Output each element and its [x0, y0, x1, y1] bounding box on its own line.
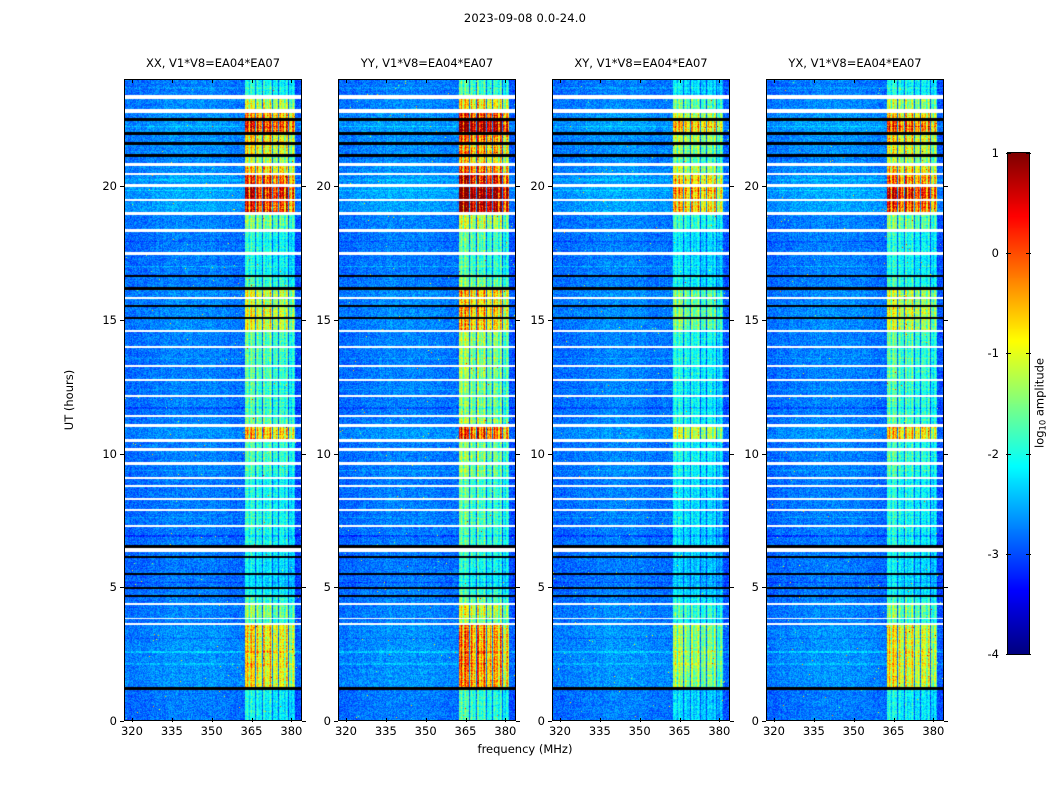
- x-tick-top: [854, 79, 855, 83]
- y-tick-label: 15: [744, 313, 759, 327]
- x-tick-label: 320: [335, 724, 357, 738]
- colorbar-frame: [1007, 152, 1030, 655]
- y-tick-label: 20: [102, 179, 117, 193]
- x-tick: [426, 718, 427, 722]
- x-tick: [640, 718, 641, 722]
- y-tick: [120, 721, 124, 722]
- y-tick-right: [730, 587, 734, 588]
- x-tick-label: 380: [708, 724, 730, 738]
- y-tick-label: 5: [110, 580, 117, 594]
- x-tick-label: 380: [494, 724, 516, 738]
- x-tick-label: 365: [241, 724, 263, 738]
- y-tick-right: [944, 454, 948, 455]
- x-tick-top: [172, 79, 173, 83]
- y-tick: [548, 186, 552, 187]
- x-tick-label: 335: [589, 724, 611, 738]
- x-tick-top: [346, 79, 347, 83]
- y-tick-right: [944, 186, 948, 187]
- colorbar-label: log10 amplitude: [1033, 358, 1048, 448]
- y-tick-label: 20: [744, 179, 759, 193]
- y-tick-right: [730, 186, 734, 187]
- panel-title-xy: XY, V1*V8=EA04*EA07: [574, 56, 707, 70]
- y-tick: [334, 320, 338, 321]
- panel-frame-yy: [338, 79, 516, 721]
- x-tick-top: [640, 79, 641, 83]
- x-tick-label: 320: [549, 724, 571, 738]
- y-tick-right: [302, 186, 306, 187]
- y-tick-label: 10: [316, 447, 331, 461]
- x-tick: [600, 718, 601, 722]
- figure-title: 2023-09-08 0.0-24.0: [0, 11, 1050, 25]
- x-tick-label: 350: [629, 724, 651, 738]
- panel-title-xx: XX, V1*V8=EA04*EA07: [146, 56, 280, 70]
- x-tick: [505, 718, 506, 722]
- x-tick-label: 320: [121, 724, 143, 738]
- y-tick: [548, 320, 552, 321]
- colorbar-tick-label: 0: [992, 246, 999, 260]
- x-tick-top: [719, 79, 720, 83]
- y-tick-label: 5: [324, 580, 331, 594]
- x-tick-label: 320: [763, 724, 785, 738]
- colorbar-tick-right: [1026, 554, 1031, 555]
- y-tick-label: 5: [538, 580, 545, 594]
- x-tick-label: 365: [455, 724, 477, 738]
- x-tick-label: 380: [280, 724, 302, 738]
- colorbar-tick: [1006, 654, 1011, 655]
- y-tick: [120, 320, 124, 321]
- y-axis-label: UT (hours): [62, 370, 76, 430]
- x-tick-top: [560, 79, 561, 83]
- y-axis-label-host: UT (hours): [75, 79, 76, 721]
- x-tick-top: [291, 79, 292, 83]
- y-tick-label: 10: [530, 447, 545, 461]
- y-tick-label: 15: [530, 313, 545, 327]
- y-tick-right: [944, 721, 948, 722]
- panel-frame-xy: [552, 79, 730, 721]
- x-tick-top: [386, 79, 387, 83]
- x-tick-top: [814, 79, 815, 83]
- colorbar-tick-label: -2: [988, 447, 999, 461]
- y-tick: [762, 454, 766, 455]
- x-tick: [894, 718, 895, 722]
- x-tick-label: 350: [843, 724, 865, 738]
- y-tick-label: 10: [744, 447, 759, 461]
- y-tick-right: [516, 721, 520, 722]
- x-tick-label: 365: [883, 724, 905, 738]
- x-tick: [854, 718, 855, 722]
- x-tick-top: [466, 79, 467, 83]
- y-tick-right: [730, 454, 734, 455]
- colorbar-tick-label: -4: [988, 647, 999, 661]
- x-tick-label: 335: [375, 724, 397, 738]
- y-tick-right: [516, 320, 520, 321]
- y-tick: [120, 587, 124, 588]
- y-tick: [762, 587, 766, 588]
- x-tick-top: [252, 79, 253, 83]
- y-tick: [548, 721, 552, 722]
- x-tick-top: [933, 79, 934, 83]
- y-tick-right: [302, 320, 306, 321]
- colorbar-tick-right: [1026, 454, 1031, 455]
- panel-title-yy: YY, V1*V8=EA04*EA07: [361, 56, 493, 70]
- x-tick: [386, 718, 387, 722]
- colorbar-tick-right: [1026, 253, 1031, 254]
- y-tick-label: 20: [316, 179, 331, 193]
- colorbar-label-suffix: amplitude: [1033, 358, 1047, 420]
- y-tick-right: [730, 721, 734, 722]
- colorbar-tick-right: [1026, 654, 1031, 655]
- y-tick-label: 15: [102, 313, 117, 327]
- x-tick-top: [680, 79, 681, 83]
- colorbar-tick-right: [1026, 153, 1031, 154]
- x-tick: [560, 718, 561, 722]
- colorbar-tick-right: [1026, 353, 1031, 354]
- colorbar-tick-label: -1: [988, 346, 999, 360]
- x-tick: [291, 718, 292, 722]
- y-tick-label: 0: [752, 714, 759, 728]
- y-tick: [548, 454, 552, 455]
- y-tick-label: 15: [316, 313, 331, 327]
- y-tick-right: [944, 320, 948, 321]
- x-tick: [132, 718, 133, 722]
- y-tick-label: 10: [102, 447, 117, 461]
- x-tick-label: 350: [415, 724, 437, 738]
- x-tick: [814, 718, 815, 722]
- colorbar-tick-label: 1: [992, 146, 999, 160]
- colorbar-tick: [1006, 253, 1011, 254]
- spectrum-panel-xy: XY, V1*V8=EA04*EA07320335350365380051015…: [552, 79, 730, 721]
- x-tick: [346, 718, 347, 722]
- panel-title-yx: YX, V1*V8=EA04*EA07: [788, 56, 921, 70]
- y-tick: [762, 721, 766, 722]
- colorbar-tick: [1006, 353, 1011, 354]
- y-tick-right: [944, 587, 948, 588]
- x-tick: [933, 718, 934, 722]
- x-tick: [719, 718, 720, 722]
- y-tick: [762, 186, 766, 187]
- y-tick: [334, 721, 338, 722]
- y-tick: [120, 454, 124, 455]
- y-tick-right: [516, 186, 520, 187]
- y-tick: [334, 454, 338, 455]
- y-tick-right: [302, 721, 306, 722]
- spectrum-panel-xx: XX, V1*V8=EA04*EA07320335350365380051015…: [124, 79, 302, 721]
- colorbar-label-prefix: log: [1033, 430, 1047, 448]
- colorbar: -4-3-2-101: [1007, 152, 1030, 655]
- x-tick-top: [600, 79, 601, 83]
- x-tick-top: [505, 79, 506, 83]
- y-tick-right: [302, 587, 306, 588]
- x-tick: [466, 718, 467, 722]
- x-tick-top: [426, 79, 427, 83]
- x-tick: [774, 718, 775, 722]
- colorbar-label-subscript: 10: [1037, 420, 1047, 431]
- figure-canvas: 2023-09-08 0.0-24.0 UT (hours) XX, V1*V8…: [0, 0, 1050, 800]
- panel-frame-yx: [766, 79, 944, 721]
- panel-frame-xx: [124, 79, 302, 721]
- y-tick-right: [516, 587, 520, 588]
- colorbar-tick: [1006, 554, 1011, 555]
- x-tick-label: 365: [669, 724, 691, 738]
- spectrum-panel-yx: YX, V1*V8=EA04*EA07320335350365380051015…: [766, 79, 944, 721]
- y-tick-right: [516, 454, 520, 455]
- y-tick: [334, 186, 338, 187]
- x-tick-top: [774, 79, 775, 83]
- y-tick-label: 0: [110, 714, 117, 728]
- x-tick-label: 335: [161, 724, 183, 738]
- x-tick: [680, 718, 681, 722]
- x-tick-label: 380: [922, 724, 944, 738]
- colorbar-tick-label: -3: [988, 547, 999, 561]
- x-tick-top: [894, 79, 895, 83]
- y-tick-label: 0: [324, 714, 331, 728]
- y-tick: [762, 320, 766, 321]
- y-tick: [548, 587, 552, 588]
- colorbar-tick: [1006, 454, 1011, 455]
- colorbar-tick: [1006, 153, 1011, 154]
- y-tick: [120, 186, 124, 187]
- y-tick-label: 5: [752, 580, 759, 594]
- x-tick-top: [212, 79, 213, 83]
- x-tick-label: 335: [803, 724, 825, 738]
- x-axis-label: frequency (MHz): [0, 742, 1050, 756]
- y-tick-label: 0: [538, 714, 545, 728]
- y-tick-right: [730, 320, 734, 321]
- x-tick: [212, 718, 213, 722]
- spectrum-panel-yy: YY, V1*V8=EA04*EA07320335350365380051015…: [338, 79, 516, 721]
- y-tick-label: 20: [530, 179, 545, 193]
- x-tick-label: 350: [201, 724, 223, 738]
- y-tick-right: [302, 454, 306, 455]
- x-tick: [252, 718, 253, 722]
- y-tick: [334, 587, 338, 588]
- x-tick: [172, 718, 173, 722]
- x-tick-top: [132, 79, 133, 83]
